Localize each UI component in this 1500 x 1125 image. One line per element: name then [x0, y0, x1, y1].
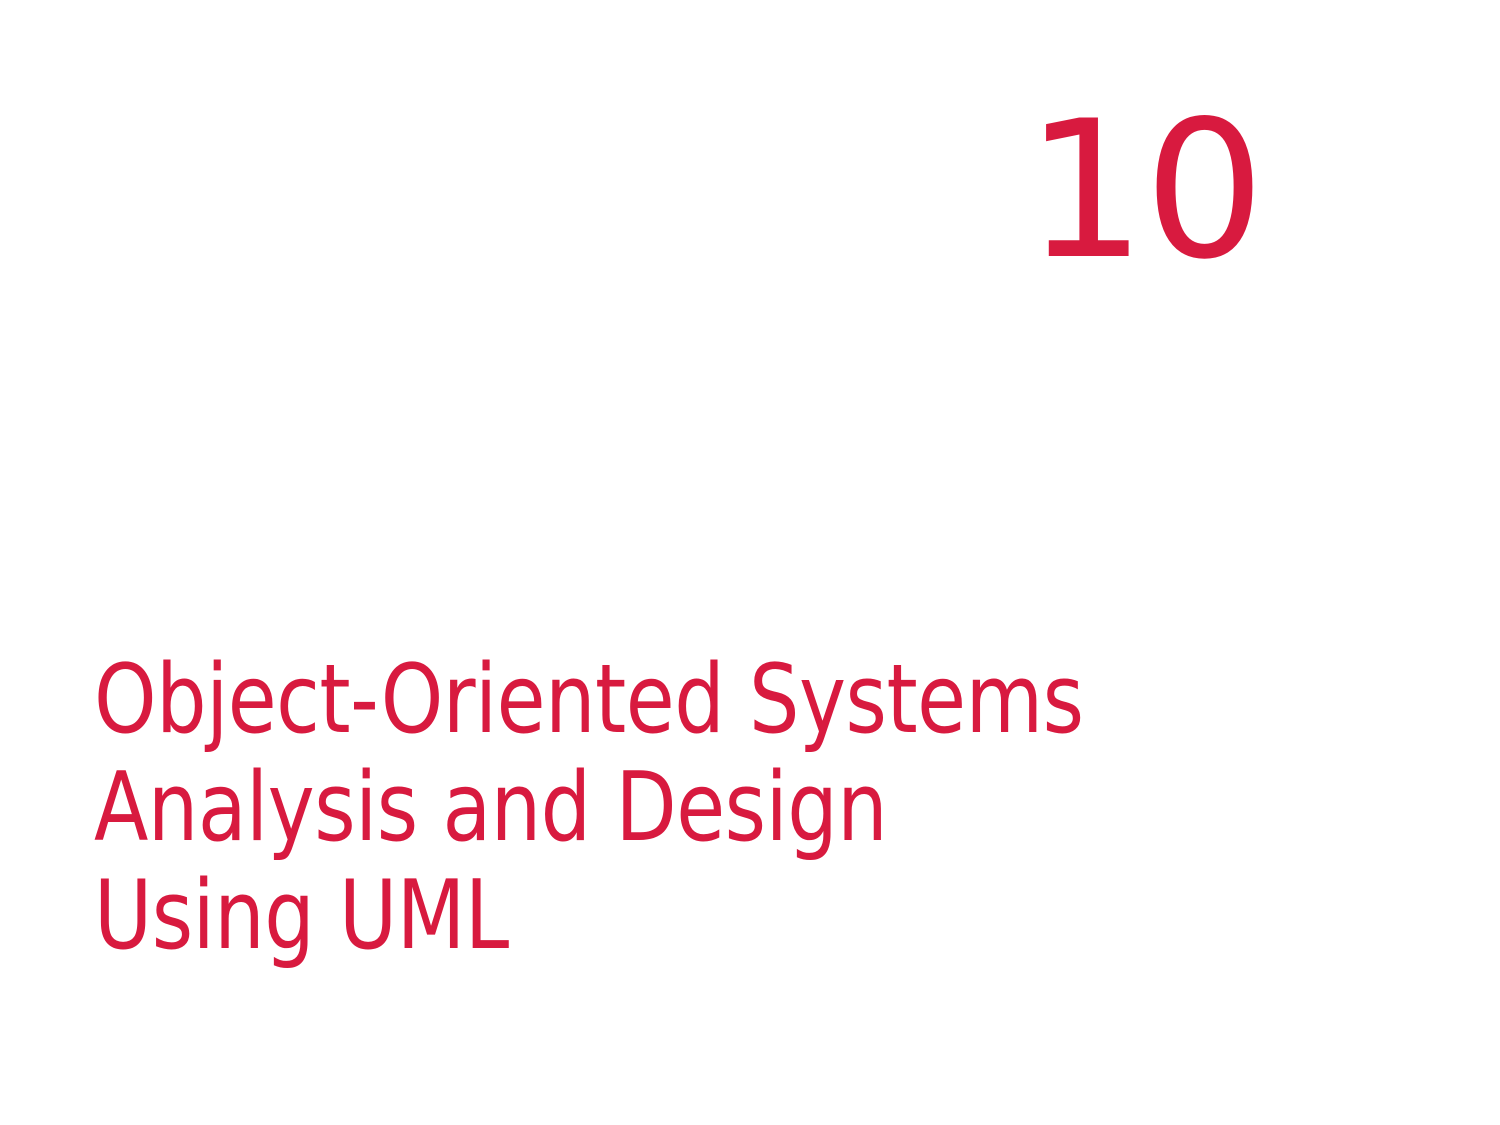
- chapter-number: 10: [0, 96, 1263, 286]
- slide-title-line-3: Using UML: [94, 862, 1061, 970]
- slide-title: Object-Oriented Systems Analysis and Des…: [94, 646, 1134, 970]
- presentation-slide: 10 Object-Oriented Systems Analysis and …: [0, 0, 1500, 1125]
- slide-title-line-2: Analysis and Design: [94, 754, 1061, 862]
- slide-title-line-1: Object-Oriented Systems: [94, 646, 1061, 754]
